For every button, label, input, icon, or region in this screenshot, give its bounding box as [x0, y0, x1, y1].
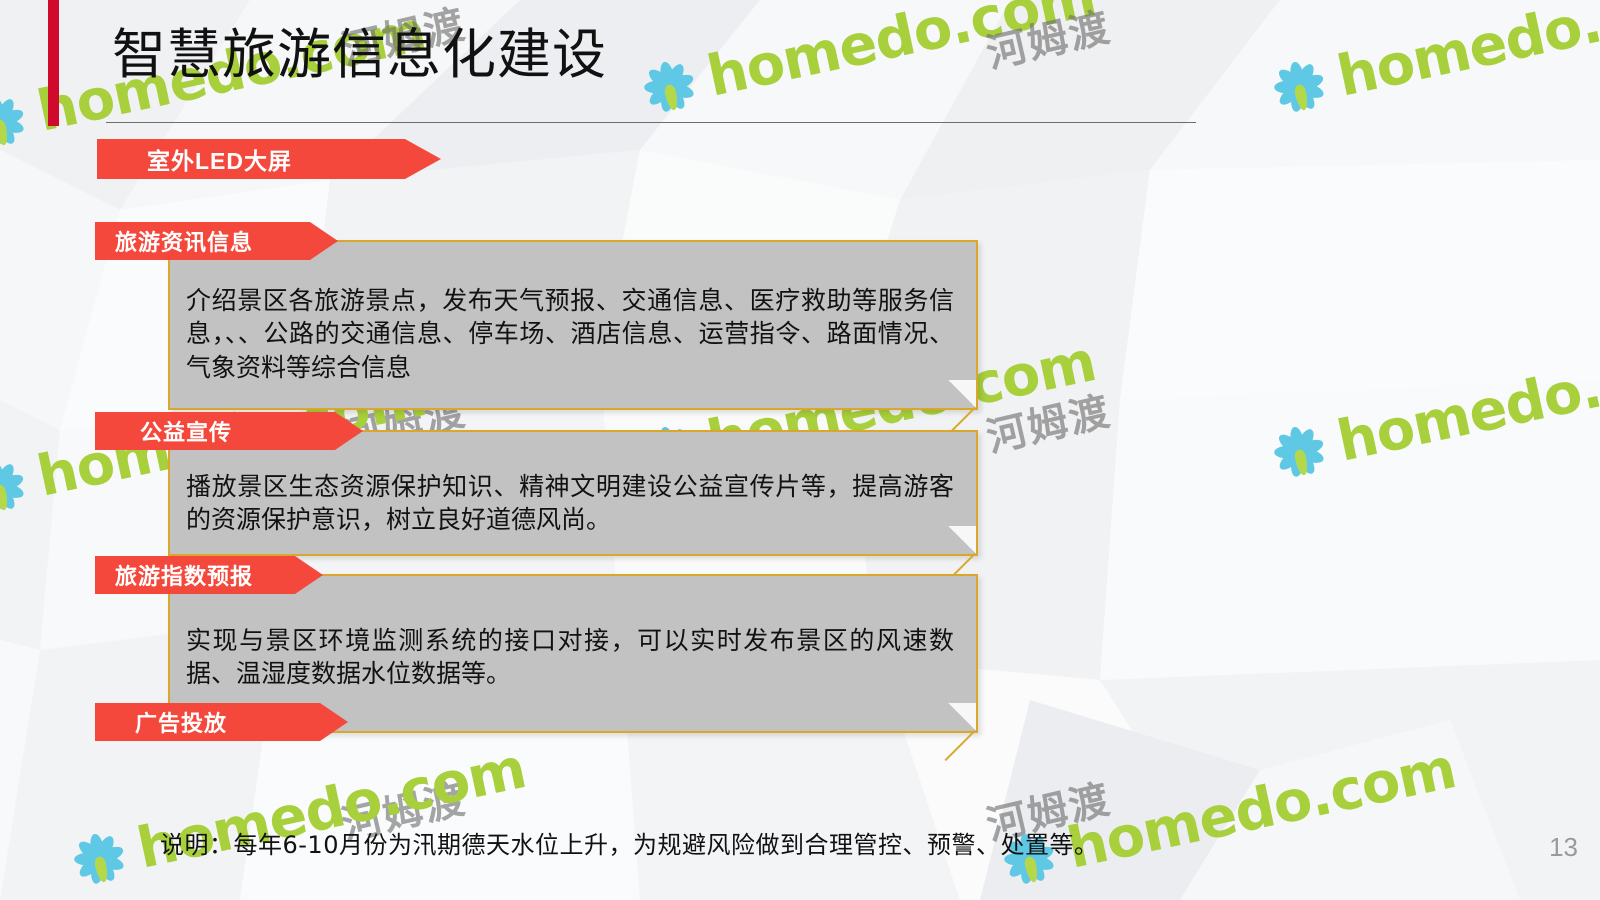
section-banner-outdoor-led[interactable]: 室外LED大屏 [97, 139, 441, 179]
content-panel-text: 介绍景区各旅游景点，发布天气预报、交通信息、医疗救助等服务信息，、、公路的交通信… [170, 242, 976, 384]
footer-note: 说明：每年6-10月份为汛期德天水位上升，为规避风险做到合理管控、预警、处置等。 [160, 825, 1098, 860]
section-tag-tourism-index[interactable]: 旅游指数预报 [95, 556, 323, 594]
section-tag-public-welfare[interactable]: 公益宣传 [95, 412, 363, 450]
header-divider [106, 122, 1196, 123]
page-number: 13 [1549, 832, 1578, 863]
folded-corner-icon [948, 703, 978, 733]
section-banner-label: 室外LED大屏 [147, 142, 292, 176]
folded-corner-icon [948, 526, 978, 556]
slide-canvas: homedo.com 河姆渡 homedo.com 河姆渡 [0, 0, 1600, 900]
folded-corner-icon [948, 380, 978, 410]
section-tag-label: 旅游指数预报 [115, 559, 253, 591]
section-tag-advertising[interactable]: 广告投放 [95, 703, 348, 741]
section-tag-travel-info[interactable]: 旅游资讯信息 [95, 222, 338, 260]
section-tag-label: 旅游资讯信息 [115, 225, 253, 257]
section-tag-label: 广告投放 [135, 706, 227, 738]
content-panel: 介绍景区各旅游景点，发布天气预报、交通信息、医疗救助等服务信息，、、公路的交通信… [168, 240, 978, 410]
section-tag-label: 公益宣传 [140, 415, 232, 447]
header-accent-bar [48, 0, 59, 126]
page-title: 智慧旅游信息化建设 [112, 28, 607, 82]
